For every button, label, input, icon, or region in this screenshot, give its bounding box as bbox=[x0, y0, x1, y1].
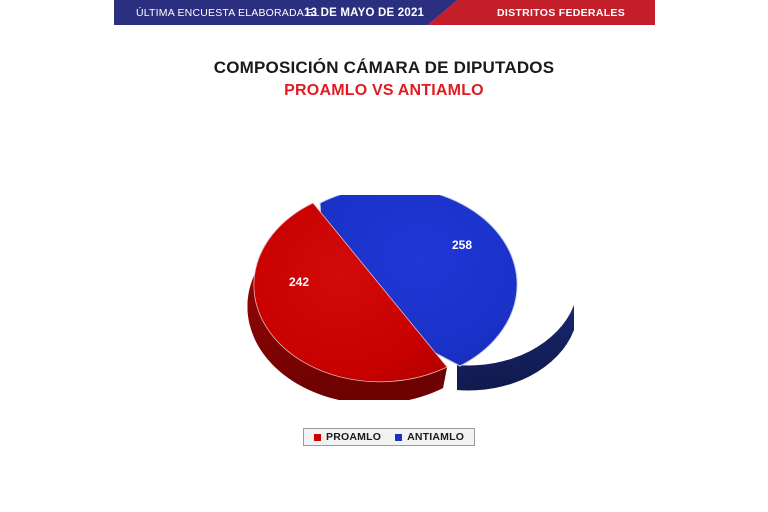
banner-text-row: ÚLTIMA ENCUESTA ELABORADA EL 13 DE MAYO … bbox=[114, 0, 655, 25]
legend-label-proamlo: PROAMLO bbox=[326, 431, 381, 443]
page-subtitle: PROAMLO VS ANTIAMLO bbox=[0, 82, 768, 100]
legend-item-proamlo[interactable]: PROAMLO bbox=[314, 431, 381, 443]
banner-left-label: ÚLTIMA ENCUESTA ELABORADA EL bbox=[136, 7, 320, 19]
page-title: COMPOSICIÓN CÁMARA DE DIPUTADOS bbox=[0, 58, 768, 78]
legend-item-antiamlo[interactable]: ANTIAMLO bbox=[395, 431, 464, 443]
pie-slice-antiamlo-edge bbox=[457, 365, 459, 390]
pie-chart: 242 258 bbox=[185, 195, 580, 400]
legend-label-antiamlo: ANTIAMLO bbox=[407, 431, 464, 443]
legend-swatch-proamlo-icon bbox=[314, 434, 321, 441]
chart-legend: PROAMLO ANTIAMLO bbox=[303, 428, 475, 446]
legend-swatch-antiamlo-icon bbox=[395, 434, 402, 441]
banner-right-label: DISTRITOS FEDERALES bbox=[497, 7, 625, 19]
header-banner: ÚLTIMA ENCUESTA ELABORADA EL 13 DE MAYO … bbox=[114, 0, 655, 25]
banner-date: 13 DE MAYO DE 2021 bbox=[304, 7, 424, 19]
pie-chart-svg bbox=[185, 195, 580, 400]
